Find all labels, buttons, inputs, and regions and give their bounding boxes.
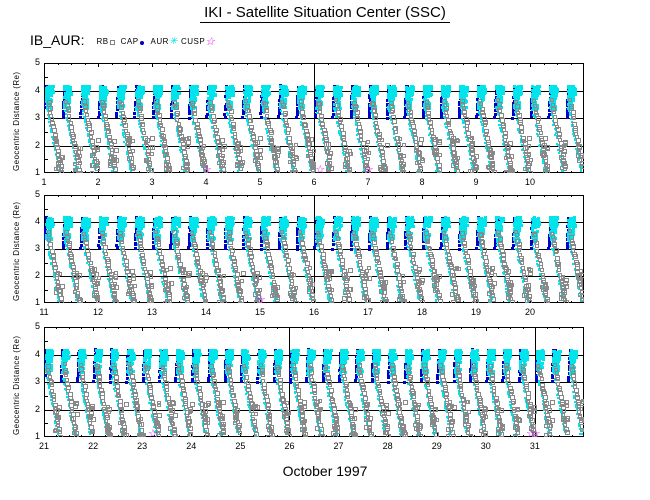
x-tick-minor bbox=[287, 63, 288, 65]
data-point-cap bbox=[62, 246, 65, 249]
x-tick-minor bbox=[409, 63, 410, 65]
data-point-rb bbox=[560, 166, 564, 170]
data-point-aur bbox=[118, 90, 121, 93]
x-tick-minor bbox=[328, 195, 329, 197]
x-tick-minor bbox=[382, 63, 383, 65]
data-point-rb bbox=[229, 109, 234, 114]
data-point-aur bbox=[316, 91, 319, 94]
data-point-rb bbox=[366, 157, 370, 161]
data-point-rb bbox=[216, 154, 220, 158]
data-point-rb bbox=[276, 170, 280, 173]
y-tick-label-2: 2 bbox=[22, 141, 40, 150]
data-point-rb bbox=[355, 116, 360, 121]
x-tick-minor bbox=[85, 195, 86, 197]
x-tick-top bbox=[206, 63, 207, 67]
data-point-rb bbox=[474, 154, 479, 159]
data-point-cap bbox=[511, 117, 514, 120]
y-tick-major-2 bbox=[44, 146, 50, 147]
data-point-aur bbox=[49, 94, 52, 97]
x-tick-minor bbox=[220, 63, 221, 65]
y-tick-minor bbox=[44, 77, 48, 78]
y-tick-minor bbox=[44, 263, 48, 264]
data-point-rb bbox=[474, 165, 479, 170]
data-point-aur bbox=[502, 92, 505, 95]
x-tick-minor bbox=[166, 195, 167, 197]
data-point-aur bbox=[160, 85, 163, 88]
data-point-rb bbox=[275, 160, 279, 164]
y-axis-title: Geocentric Distance (Re) bbox=[12, 72, 21, 171]
x-tick-top bbox=[530, 63, 531, 67]
data-point-aur bbox=[103, 95, 106, 98]
x-tick-minor bbox=[139, 195, 140, 197]
data-point-cap bbox=[440, 116, 443, 119]
data-point-cap bbox=[188, 117, 191, 120]
x-tick-minor bbox=[85, 63, 86, 65]
data-point-rb bbox=[56, 280, 60, 284]
x-tick-minor bbox=[233, 171, 234, 173]
data-point-rb bbox=[532, 99, 536, 103]
data-point-aur bbox=[81, 88, 84, 91]
data-point-aur bbox=[459, 85, 462, 88]
panel-plot-area: ☆☆☆ bbox=[44, 63, 584, 173]
data-point-cap bbox=[368, 116, 371, 119]
data-point-cusp: ☆ bbox=[315, 165, 324, 173]
x-tick-minor bbox=[58, 195, 59, 197]
data-point-rb bbox=[418, 151, 422, 155]
data-point-rb bbox=[523, 167, 527, 171]
data-point-rb bbox=[221, 160, 226, 165]
data-point-aur bbox=[483, 92, 486, 95]
y-axis-title: Geocentric Distance (Re) bbox=[12, 202, 21, 301]
data-point-aur bbox=[300, 94, 303, 97]
data-point-rb bbox=[238, 145, 243, 150]
data-point-aur bbox=[49, 226, 52, 229]
x-tick-minor bbox=[287, 171, 288, 173]
y-tick-minor bbox=[44, 159, 48, 160]
data-point-rb bbox=[506, 145, 511, 150]
data-point-rb bbox=[462, 106, 466, 110]
data-point-rb bbox=[60, 155, 64, 159]
x-tick-minor bbox=[490, 63, 491, 65]
x-tick-minor bbox=[233, 63, 234, 65]
x-tick-minor bbox=[436, 63, 437, 65]
x-tick-minor bbox=[557, 301, 558, 303]
x-tick-minor bbox=[517, 195, 518, 197]
data-point-rb bbox=[394, 130, 398, 134]
data-point-rb bbox=[294, 156, 299, 161]
data-point-aur bbox=[265, 88, 268, 91]
data-point-rb bbox=[181, 166, 185, 170]
x-tick-minor bbox=[166, 63, 167, 65]
x-tick-minor bbox=[517, 171, 518, 173]
data-point-cap bbox=[493, 116, 496, 119]
data-point-rb bbox=[160, 127, 165, 132]
x-tick-label-16: 16 bbox=[302, 307, 326, 317]
data-point-rb bbox=[119, 105, 124, 110]
data-point-rb bbox=[572, 116, 576, 120]
x-tick-minor bbox=[571, 171, 572, 173]
y-tick-right-4 bbox=[578, 91, 584, 92]
data-point-rb bbox=[398, 154, 403, 159]
data-point-rb bbox=[437, 163, 442, 168]
data-point-aur bbox=[211, 88, 214, 91]
data-point-aur bbox=[351, 94, 354, 97]
data-point-aur bbox=[137, 88, 140, 91]
data-point-rb bbox=[240, 160, 245, 165]
data-point-aur bbox=[447, 90, 450, 93]
legend-entry-rb-label: RB bbox=[96, 37, 108, 46]
y-tick-label-4: 4 bbox=[22, 217, 40, 226]
data-point-rb bbox=[437, 140, 442, 145]
data-point-aur bbox=[122, 89, 125, 92]
x-tick-minor bbox=[382, 195, 383, 197]
panel-plot-area: ☆ bbox=[44, 195, 584, 303]
x-tick-label-1: 1 bbox=[32, 177, 56, 187]
data-point-rb bbox=[150, 136, 155, 141]
data-point-aur bbox=[232, 89, 235, 92]
data-point-rb bbox=[479, 102, 483, 106]
x-tick-minor bbox=[287, 301, 288, 303]
x-tick-minor bbox=[179, 63, 180, 65]
data-point-aur bbox=[567, 85, 570, 88]
x-tick-minor bbox=[179, 195, 180, 197]
data-point-rb bbox=[380, 138, 384, 142]
data-point-rb bbox=[563, 167, 567, 171]
x-tick-minor bbox=[233, 301, 234, 303]
data-point-rb bbox=[367, 151, 371, 155]
data-point-rb bbox=[247, 109, 251, 113]
data-point-rb bbox=[343, 162, 348, 167]
x-tick-top bbox=[152, 195, 153, 199]
x-tick-minor bbox=[395, 195, 396, 197]
x-tick-minor bbox=[463, 301, 464, 303]
data-point-aur bbox=[49, 86, 52, 89]
data-point-rb bbox=[256, 163, 261, 168]
legend-entry-cap: CAP bbox=[121, 35, 148, 46]
data-point-rb bbox=[527, 152, 531, 156]
data-point-rb bbox=[499, 113, 504, 118]
data-point-aur bbox=[262, 86, 265, 89]
data-point-rb bbox=[456, 156, 460, 160]
data-point-rb bbox=[164, 162, 169, 167]
data-point-rb bbox=[212, 120, 216, 124]
data-point-cap bbox=[295, 116, 298, 119]
data-point-rb bbox=[334, 98, 338, 102]
data-point-aur bbox=[535, 86, 538, 89]
data-point-aur bbox=[299, 90, 302, 93]
x-tick-minor bbox=[355, 195, 356, 197]
x-tick-label-12: 12 bbox=[86, 307, 110, 317]
x-tick-top bbox=[44, 63, 45, 67]
data-point-rb bbox=[312, 149, 316, 153]
x-tick-label-2: 2 bbox=[86, 177, 110, 187]
data-point-aur bbox=[106, 90, 109, 93]
data-point-rb bbox=[545, 145, 550, 150]
x-tick-top bbox=[98, 195, 99, 199]
y-tick-label-5: 5 bbox=[22, 190, 40, 199]
data-point-rb bbox=[234, 147, 238, 151]
x-tick-label-14: 14 bbox=[194, 307, 218, 317]
data-point-aur bbox=[249, 86, 252, 89]
data-point-rb bbox=[309, 137, 314, 142]
x-tick-minor bbox=[449, 171, 450, 173]
x-tick-minor bbox=[247, 301, 248, 303]
x-tick-top bbox=[368, 195, 369, 199]
data-point-rb bbox=[420, 158, 425, 163]
data-point-aur bbox=[304, 90, 307, 93]
data-point-aur bbox=[245, 90, 248, 93]
data-point-rb bbox=[563, 143, 567, 147]
data-point-aur bbox=[176, 96, 179, 99]
data-point-rb bbox=[543, 136, 548, 141]
data-point-rb bbox=[302, 116, 306, 120]
data-point-aur bbox=[411, 85, 414, 88]
data-point-rb bbox=[141, 123, 145, 127]
x-tick-top bbox=[422, 195, 423, 199]
data-point-aur bbox=[190, 90, 193, 93]
x-tick-top bbox=[476, 63, 477, 67]
x-tick-top bbox=[314, 63, 315, 67]
x-tick-minor bbox=[355, 63, 356, 65]
data-point-rb bbox=[162, 144, 166, 148]
data-point-aur bbox=[392, 94, 395, 97]
data-point-rb bbox=[113, 167, 118, 172]
data-point-rb bbox=[488, 154, 493, 159]
data-point-rb bbox=[371, 102, 376, 107]
x-tick-minor bbox=[463, 195, 464, 197]
x-tick-minor bbox=[503, 301, 504, 303]
data-point-rb bbox=[291, 146, 295, 150]
data-point-rb bbox=[550, 98, 554, 102]
data-point-rb bbox=[492, 170, 497, 173]
open-square-marker-icon bbox=[109, 35, 118, 46]
x-tick-minor bbox=[328, 63, 329, 65]
x-tick-minor bbox=[85, 171, 86, 173]
data-point-rb bbox=[327, 155, 332, 160]
data-point-aur bbox=[171, 96, 174, 99]
data-point-rb bbox=[210, 109, 214, 113]
x-tick-minor bbox=[355, 171, 356, 173]
data-point-rb bbox=[447, 123, 451, 127]
x-tick-label-10: 10 bbox=[518, 177, 542, 187]
x-tick-minor bbox=[341, 63, 342, 65]
x-tick-label-13: 13 bbox=[140, 307, 164, 317]
x-tick-top bbox=[422, 63, 423, 67]
data-point-aur bbox=[159, 89, 162, 92]
data-point-rb bbox=[306, 154, 310, 158]
x-tick-label-11: 11 bbox=[32, 307, 56, 317]
x-tick-label-17: 17 bbox=[356, 307, 380, 317]
data-point-rb bbox=[56, 166, 61, 171]
x-tick-minor bbox=[112, 195, 113, 197]
x-tick-minor bbox=[287, 195, 288, 197]
data-point-rb bbox=[366, 140, 370, 144]
data-point-rb bbox=[112, 139, 117, 144]
data-point-aur bbox=[281, 90, 284, 93]
data-point-rb bbox=[562, 149, 567, 154]
data-point-aur bbox=[572, 96, 575, 99]
data-point-rb bbox=[397, 148, 401, 152]
data-point-rb bbox=[174, 105, 179, 110]
data-point-rb bbox=[504, 171, 509, 173]
data-point-aur bbox=[442, 88, 445, 91]
x-tick-minor bbox=[58, 63, 59, 65]
data-point-rb bbox=[288, 153, 293, 158]
x-tick-minor bbox=[463, 171, 464, 173]
data-point-rb bbox=[142, 131, 146, 135]
data-point-aur bbox=[87, 89, 90, 92]
data-point-rb bbox=[417, 169, 421, 173]
data-point-rb bbox=[291, 171, 296, 173]
data-point-rb bbox=[185, 162, 189, 166]
x-tick-minor bbox=[125, 63, 126, 65]
x-tick-minor bbox=[463, 63, 464, 65]
data-point-cap bbox=[115, 115, 118, 118]
data-point-aur bbox=[302, 86, 305, 89]
data-point-aur bbox=[580, 170, 582, 172]
data-point-rb bbox=[398, 137, 402, 141]
data-point-aur bbox=[374, 87, 377, 90]
x-tick-minor bbox=[274, 63, 275, 65]
x-tick-minor bbox=[517, 301, 518, 303]
x-tick-bottom bbox=[44, 299, 45, 303]
x-tick-minor bbox=[71, 63, 72, 65]
x-tick-minor bbox=[125, 195, 126, 197]
data-point-rb bbox=[451, 150, 456, 155]
data-point-rb bbox=[433, 152, 438, 157]
data-point-rb bbox=[220, 138, 225, 143]
data-point-rb bbox=[59, 301, 64, 303]
x-tick-minor bbox=[557, 195, 558, 197]
x-tick-minor bbox=[301, 301, 302, 303]
x-tick-minor bbox=[125, 171, 126, 173]
data-point-aur bbox=[482, 87, 485, 90]
x-tick-label-6: 6 bbox=[302, 177, 326, 187]
data-point-rb bbox=[456, 139, 460, 143]
data-point-rb bbox=[419, 137, 424, 142]
x-tick-top bbox=[260, 63, 261, 67]
data-point-rb bbox=[577, 158, 582, 163]
data-point-aur bbox=[124, 85, 127, 88]
data-point-rb bbox=[78, 171, 83, 173]
data-point-aur bbox=[477, 95, 480, 98]
x-tick-top bbox=[476, 195, 477, 199]
data-point-rb bbox=[178, 127, 183, 132]
data-point-aur bbox=[102, 88, 105, 91]
data-point-rb bbox=[504, 156, 508, 160]
y-tick-label-3: 3 bbox=[22, 113, 40, 122]
data-point-rb bbox=[520, 130, 524, 134]
data-point-aur bbox=[190, 86, 193, 89]
x-tick-minor bbox=[301, 171, 302, 173]
data-point-rb bbox=[536, 120, 540, 124]
data-point-rb bbox=[291, 162, 296, 167]
data-point-rb bbox=[325, 149, 330, 154]
data-point-rb bbox=[54, 138, 58, 142]
data-point-rb bbox=[400, 164, 405, 169]
data-point-rb bbox=[428, 120, 433, 125]
x-tick-minor bbox=[436, 195, 437, 197]
legend-entry-aur: AUR ✳ bbox=[151, 35, 178, 46]
x-tick-minor bbox=[557, 63, 558, 65]
data-point-rb bbox=[56, 271, 60, 275]
data-point-rb bbox=[483, 123, 487, 127]
data-point-rb bbox=[522, 139, 526, 143]
legend-entry-aur-label: AUR bbox=[151, 37, 169, 46]
data-point-rb bbox=[220, 147, 225, 152]
y-tick-label-5: 5 bbox=[22, 58, 40, 67]
data-point-rb bbox=[415, 161, 419, 165]
x-tick-top bbox=[260, 195, 261, 199]
data-point-aur bbox=[47, 89, 50, 92]
data-point-rb bbox=[489, 148, 493, 152]
data-point-aur bbox=[520, 91, 523, 94]
x-tick-minor bbox=[233, 195, 234, 197]
data-point-aur bbox=[191, 96, 194, 99]
x-tick-minor bbox=[112, 63, 113, 65]
y-tick-label-1: 1 bbox=[22, 168, 40, 177]
data-point-rb bbox=[545, 171, 550, 174]
x-tick-top bbox=[314, 195, 315, 199]
legend-entry-cusp-label: CUSP bbox=[181, 37, 205, 46]
data-point-rb bbox=[426, 106, 430, 110]
data-point-rb bbox=[78, 154, 82, 158]
data-point-rb bbox=[145, 158, 149, 162]
data-point-rb bbox=[163, 139, 167, 143]
data-point-aur bbox=[358, 86, 361, 89]
y-tick-minor bbox=[44, 132, 48, 133]
data-point-rb bbox=[283, 113, 287, 117]
data-point-rb bbox=[95, 166, 100, 171]
data-point-aur bbox=[462, 89, 465, 92]
x-tick-minor bbox=[125, 301, 126, 303]
data-point-rb bbox=[381, 159, 386, 164]
x-tick-label-7: 7 bbox=[356, 177, 380, 187]
data-point-rb bbox=[556, 127, 561, 132]
data-point-rb bbox=[114, 148, 119, 153]
data-point-cap bbox=[260, 116, 263, 119]
data-point-rb bbox=[78, 161, 82, 165]
data-point-rb bbox=[112, 155, 117, 160]
data-point-rb bbox=[186, 145, 190, 149]
data-point-rb bbox=[78, 146, 83, 151]
data-point-rb bbox=[318, 106, 322, 110]
chart-panel-2: ☆ bbox=[44, 195, 584, 303]
data-point-rb bbox=[150, 152, 154, 156]
data-point-aur bbox=[174, 85, 177, 88]
data-point-aur bbox=[285, 94, 288, 97]
y-tick-right-3 bbox=[578, 249, 584, 250]
data-point-aur bbox=[394, 90, 397, 93]
y-tick-label-2: 2 bbox=[22, 271, 40, 280]
data-point-cap bbox=[170, 116, 173, 119]
data-point-cap bbox=[512, 113, 515, 116]
data-point-rb bbox=[258, 148, 263, 153]
data-point-rb bbox=[559, 155, 564, 160]
data-point-aur bbox=[228, 96, 231, 99]
data-point-rb bbox=[540, 151, 545, 156]
data-point-rb bbox=[163, 153, 167, 157]
y-tick-minor bbox=[44, 290, 48, 291]
data-point-rb bbox=[185, 169, 189, 173]
data-point-rb bbox=[54, 290, 59, 295]
data-point-aur bbox=[426, 95, 429, 98]
x-tick-label-3: 3 bbox=[140, 177, 164, 187]
x-tick-top bbox=[206, 195, 207, 199]
x-tick-minor bbox=[193, 171, 194, 173]
data-point-rb bbox=[527, 144, 531, 148]
x-tick-minor bbox=[503, 63, 504, 65]
